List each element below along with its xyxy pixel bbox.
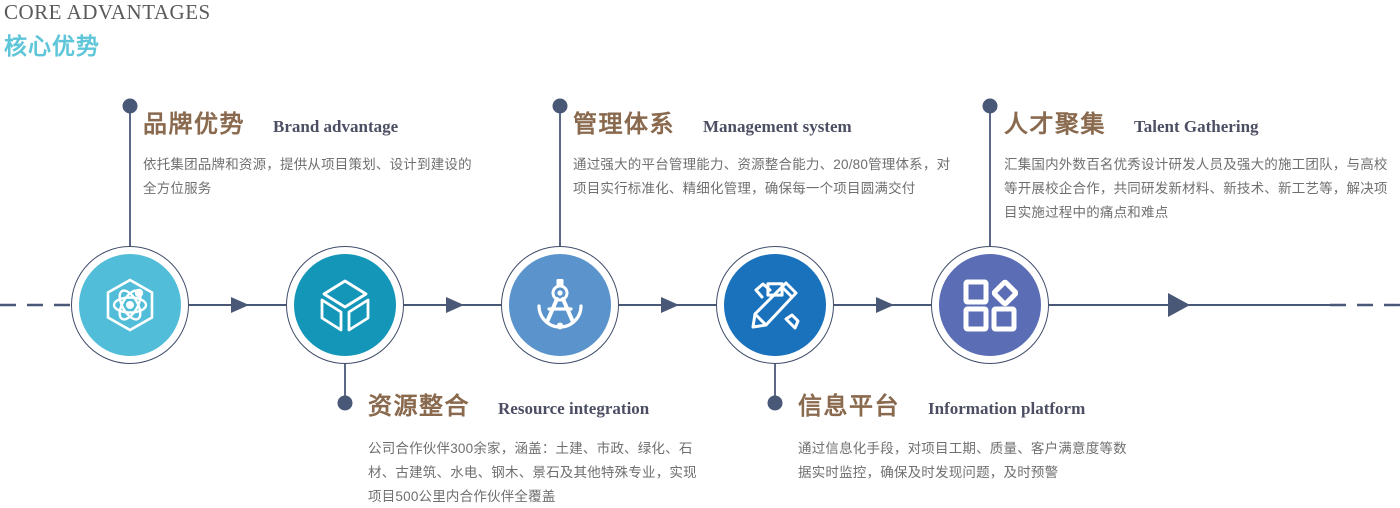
callout-brand-advantage: 品牌优势 Brand advantage 依托集团品牌和资源，提供从项目策划、设… bbox=[143, 104, 473, 201]
callout-talent-gathering: 人才聚集 Talent Gathering 汇集国内外数百名优秀设计研发人员及强… bbox=[1004, 104, 1394, 225]
node-circle-information-platform[interactable] bbox=[716, 246, 834, 364]
callout-titles-4: 信息平台 Information platform bbox=[798, 386, 1128, 421]
compass-divider-icon bbox=[531, 276, 589, 334]
callout-titles-3: 管理体系 Management system bbox=[573, 104, 958, 139]
page-title-chinese: 核心优势 bbox=[4, 27, 100, 61]
callout-resource-integration: 资源整合 Resource integration 公司合作伙伴300余家，涵盖… bbox=[368, 386, 708, 508]
arrow-head-5 bbox=[1168, 293, 1190, 317]
node-disc-5 bbox=[939, 254, 1041, 356]
callout-title-en-1: Brand advantage bbox=[273, 117, 398, 137]
node-disc-3 bbox=[509, 254, 611, 356]
callout-description-3: 通过强大的平台管理能力、资源整合能力、20/80管理体系，对项目实行标准化、精细… bbox=[573, 153, 958, 201]
hexagon-atom-icon bbox=[99, 274, 161, 336]
callout-description-2: 公司合作伙伴300余家，涵盖：土建、市政、绿化、石材、古建筑、水电、钢木、景石及… bbox=[368, 437, 708, 508]
callout-title-en-4: Information platform bbox=[928, 399, 1085, 419]
node-circle-talent-gathering[interactable] bbox=[931, 246, 1049, 364]
callout-title-cn-2: 资源整合 bbox=[368, 386, 470, 421]
callout-title-cn-1: 品牌优势 bbox=[143, 104, 245, 139]
callout-description-1: 依托集团品牌和资源，提供从项目策划、设计到建设的全方位服务 bbox=[143, 153, 473, 201]
callout-title-en-5: Talent Gathering bbox=[1134, 117, 1259, 137]
callout-title-en-3: Management system bbox=[703, 117, 852, 137]
arrow-head-4 bbox=[876, 297, 894, 313]
callout-title-cn-5: 人才聚集 bbox=[1004, 104, 1106, 139]
callout-titles-2: 资源整合 Resource integration bbox=[368, 386, 708, 421]
node-disc-4 bbox=[724, 254, 826, 356]
callout-titles-5: 人才聚集 Talent Gathering bbox=[1004, 104, 1394, 139]
core-advantages-infographic: CORE ADVANTAGES 核心优势 bbox=[0, 0, 1400, 508]
callout-title-cn-4: 信息平台 bbox=[798, 386, 900, 421]
callout-description-4: 通过信息化手段，对项目工期、质量、客户满意度等数据实时监控，确保及时发现问题，及… bbox=[798, 437, 1128, 485]
stem-dot-node-5 bbox=[983, 99, 998, 114]
stem-dot-node-1 bbox=[123, 99, 138, 114]
stem-dot-node-2 bbox=[338, 396, 353, 411]
pencil-tools-icon bbox=[746, 276, 804, 334]
node-circle-management-system[interactable] bbox=[501, 246, 619, 364]
four-squares-icon bbox=[962, 277, 1018, 333]
arrow-head-1 bbox=[231, 297, 249, 313]
callout-title-cn-3: 管理体系 bbox=[573, 104, 675, 139]
callout-management-system: 管理体系 Management system 通过强大的平台管理能力、资源整合能… bbox=[573, 104, 958, 201]
callout-information-platform: 信息平台 Information platform 通过信息化手段，对项目工期、… bbox=[798, 386, 1128, 485]
node-disc-1 bbox=[79, 254, 181, 356]
callout-title-en-2: Resource integration bbox=[498, 399, 649, 419]
node-circle-resource-integration[interactable] bbox=[286, 246, 404, 364]
cube-box-icon bbox=[316, 276, 374, 334]
callout-description-5: 汇集国内外数百名优秀设计研发人员及强大的施工团队，与高校等开展校企合作，共同研发… bbox=[1004, 153, 1394, 225]
stem-dot-node-4 bbox=[768, 396, 783, 411]
node-circle-brand-advantage[interactable] bbox=[71, 246, 189, 364]
arrow-head-2 bbox=[446, 297, 464, 313]
node-disc-2 bbox=[294, 254, 396, 356]
stem-dot-node-3 bbox=[553, 99, 568, 114]
page-title-english: CORE ADVANTAGES bbox=[4, 0, 211, 25]
arrow-head-3 bbox=[661, 297, 679, 313]
callout-titles-1: 品牌优势 Brand advantage bbox=[143, 104, 473, 139]
